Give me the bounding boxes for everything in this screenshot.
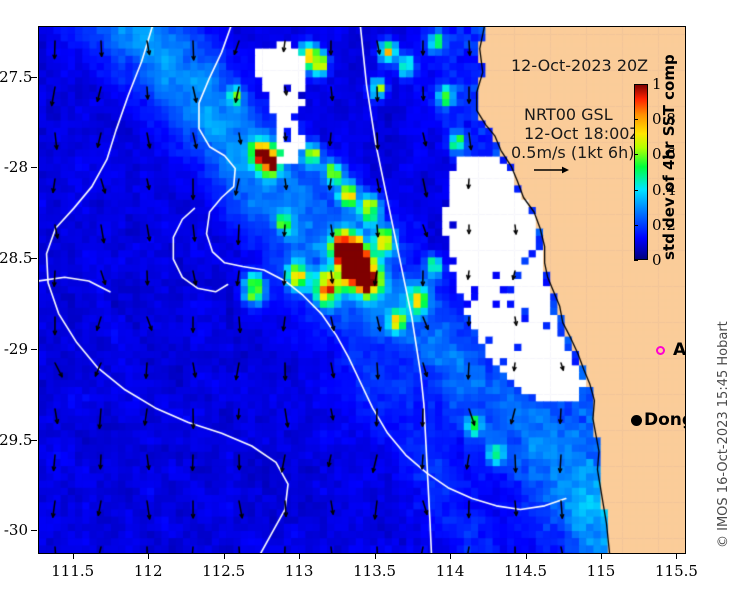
- map-plot-area[interactable]: 12-Oct-2023 20Z NRT00 GSL 12-Oct 18:00Z …: [38, 26, 686, 554]
- y-tick-mark: [31, 349, 37, 350]
- map-date-label: 12-Oct-2023 20Z: [511, 56, 648, 75]
- colorbar-tick-mark: [634, 260, 638, 261]
- map-vector-scale-label: 0.5m/s (1kt 6h): [511, 143, 634, 162]
- y-tick-label: -29.5: [0, 431, 28, 449]
- colorbar-tick-mark: [634, 119, 638, 120]
- credit-label: © IMOS 16-Oct-2023 15:45 Hobart: [716, 321, 731, 548]
- colorbar-tick-mark: [634, 190, 638, 191]
- x-tick-label: 115: [587, 562, 616, 580]
- dongara-label: Dongara: [644, 410, 686, 430]
- map-source-time-label: 12-Oct 18:00Z: [524, 124, 640, 143]
- colorbar-tick-mark: [634, 225, 638, 226]
- colorbar-title: std dev of 4hr SST comp: [660, 84, 678, 260]
- x-tick-mark: [526, 553, 527, 559]
- x-tick-label: 113: [285, 562, 314, 580]
- x-tick-mark: [224, 553, 225, 559]
- map-source-label: NRT00 GSL: [524, 105, 613, 124]
- argo-label: Argo: [673, 340, 686, 360]
- colorbar-tick-mark: [634, 84, 638, 85]
- colorbar-tick-mark: [634, 154, 638, 155]
- x-tick-mark: [601, 553, 602, 559]
- x-tick-label: 115.5: [655, 562, 698, 580]
- argo-float-marker[interactable]: [656, 346, 665, 355]
- colorbar-gradient: [634, 84, 648, 260]
- x-tick-mark: [676, 553, 677, 559]
- y-tick-mark: [31, 530, 37, 531]
- x-tick-mark: [450, 553, 451, 559]
- x-tick-label: 113.5: [353, 562, 396, 580]
- x-tick-mark: [73, 553, 74, 559]
- colorbar[interactable]: [634, 84, 648, 260]
- y-tick-label: -30: [0, 521, 28, 539]
- y-tick-label: -28.5: [0, 249, 28, 267]
- y-tick-mark: [31, 167, 37, 168]
- x-tick-mark: [148, 553, 149, 559]
- x-tick-label: 111.5: [51, 562, 94, 580]
- y-tick-label: -29: [0, 340, 28, 358]
- sst-variance-figure: 12-Oct-2023 20Z NRT00 GSL 12-Oct 18:00Z …: [0, 0, 740, 592]
- x-tick-label: 114: [436, 562, 465, 580]
- x-tick-mark: [375, 553, 376, 559]
- x-tick-mark: [299, 553, 300, 559]
- x-tick-label: 112: [134, 562, 163, 580]
- right-arrow-icon: [533, 165, 569, 175]
- x-tick-label: 114.5: [504, 562, 547, 580]
- x-tick-label: 112.5: [202, 562, 245, 580]
- dongara-town-marker[interactable]: [631, 415, 642, 426]
- y-tick-label: -28: [0, 158, 28, 176]
- y-tick-label: -27.5: [0, 68, 28, 86]
